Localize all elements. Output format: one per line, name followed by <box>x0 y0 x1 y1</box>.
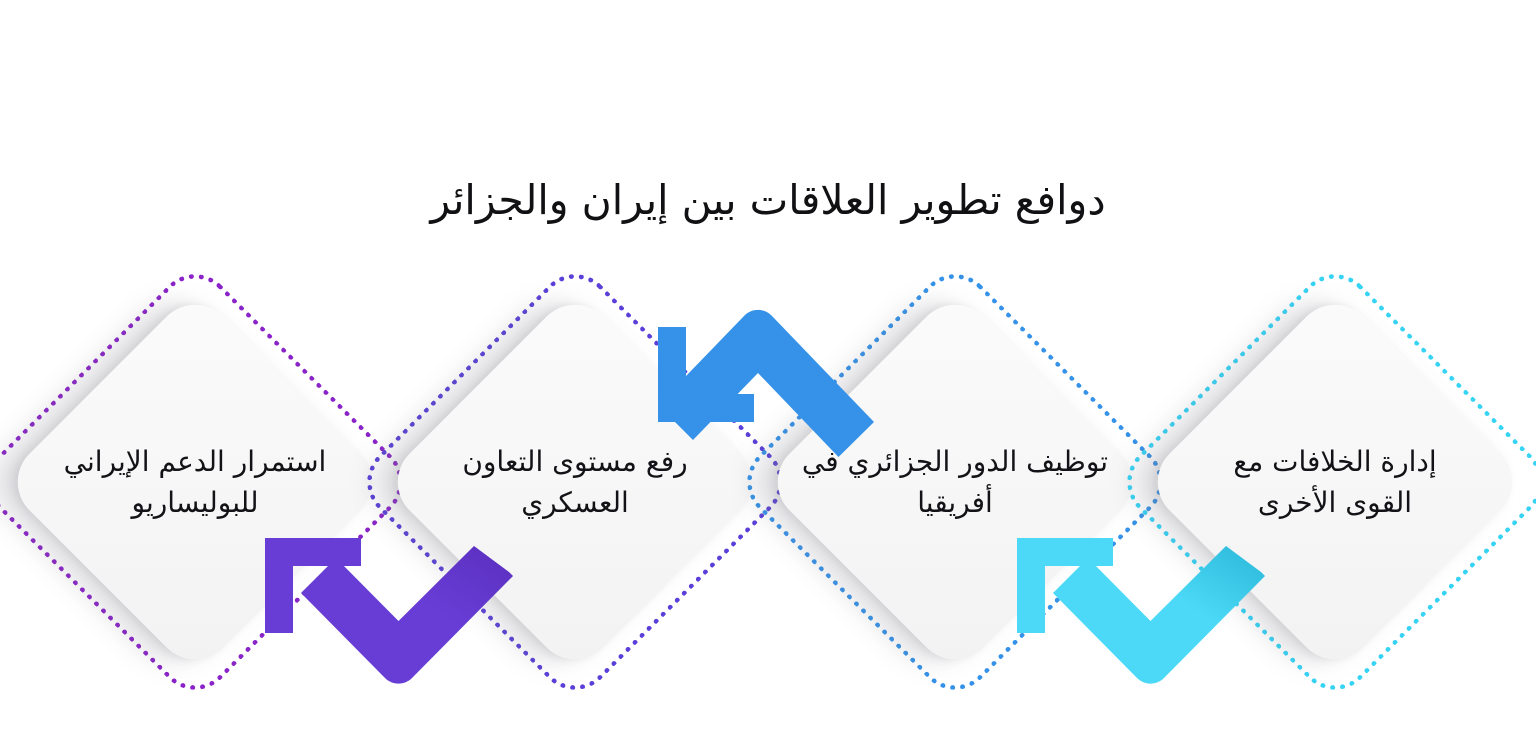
arrow-bent-down-left-icon <box>628 291 888 461</box>
infographic-canvas: دوافع تطوير العلاقات بين إيران والجزائر … <box>0 0 1536 735</box>
arrow-bent-up-left-icon <box>257 528 517 700</box>
arrow-bent-up-left-icon <box>1009 528 1269 700</box>
page-title: دوافع تطوير العلاقات بين إيران والجزائر <box>0 175 1536 226</box>
